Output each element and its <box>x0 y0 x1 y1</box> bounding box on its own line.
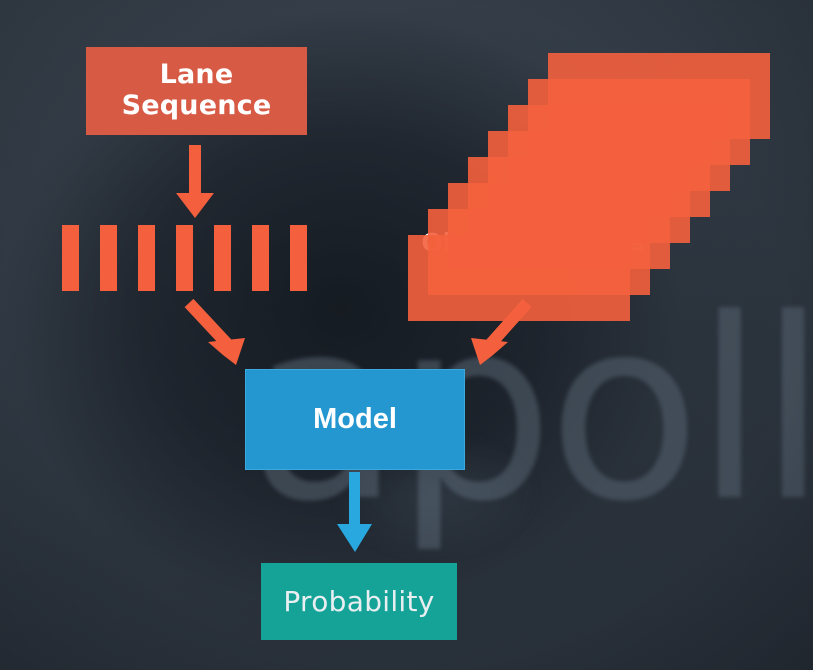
lane-sequence-bar <box>100 225 117 291</box>
lane-sequence-bar <box>62 225 79 291</box>
node-probability-label: Probability <box>283 585 434 618</box>
lane-sequence-bar <box>214 225 231 291</box>
node-lane-sequence-label: Lane Sequence <box>86 59 307 121</box>
node-model[interactable]: Model <box>245 369 465 470</box>
diagram-canvas: apollo Lane Sequence Obstacle Status Mod… <box>0 0 813 670</box>
obstacle-status-sheet <box>408 235 630 321</box>
lane-sequence-bar <box>138 225 155 291</box>
lane-sequence-bar <box>290 225 307 291</box>
node-lane-sequence[interactable]: Lane Sequence <box>86 47 307 135</box>
lane-sequence-bar <box>176 225 193 291</box>
node-probability[interactable]: Probability <box>261 563 457 640</box>
lane-sequence-bar <box>252 225 269 291</box>
node-model-label: Model <box>313 403 397 436</box>
